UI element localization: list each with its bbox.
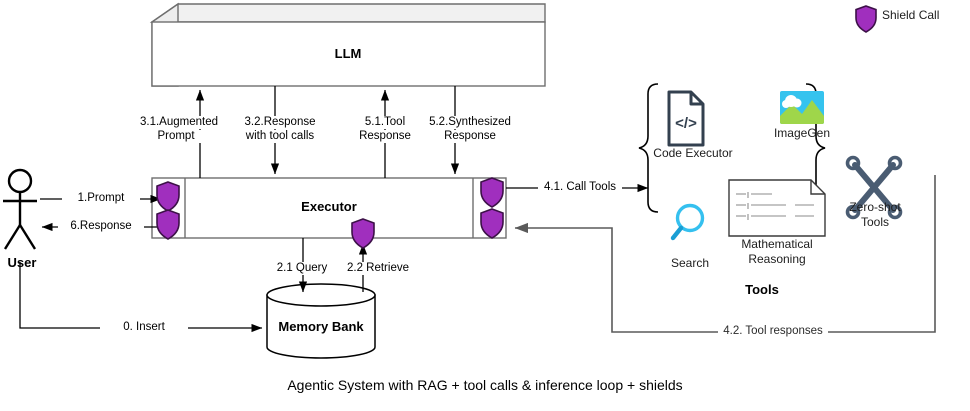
tool-label-math-l2: Reasoning: [725, 252, 829, 266]
edge-label-call-tools: 4.1. Call Tools: [538, 181, 622, 194]
tool-label-zeroshot-l2: Tools: [838, 215, 912, 229]
edge-label-prompt: 1.Prompt: [62, 192, 140, 205]
edge-label-synthesized-l2: Response: [424, 130, 516, 143]
tools-group-label: Tools: [717, 283, 807, 296]
edge-label-response: 6.Response: [58, 220, 144, 233]
edge-label-tool-response-l2: Response: [350, 130, 420, 143]
edge-label-tool-response-l1: 5.1.Tool: [350, 116, 420, 129]
diagram-caption: Agentic System with RAG + tool calls & i…: [0, 377, 970, 393]
edge-label-response-tools-l2: with tool calls: [238, 130, 322, 143]
tool-label-code-executor: Code Executor: [645, 146, 741, 160]
user-label: User: [0, 256, 44, 269]
tool-label-zeroshot-l1: Zero-shot: [838, 200, 912, 214]
tool-label-math-l1: Mathematical: [725, 237, 829, 251]
memory-bank-label: Memory Bank: [271, 320, 371, 333]
executor-label: Executor: [279, 200, 379, 213]
edge-label-query: 2.1 Query: [266, 262, 338, 275]
edge-label-retrieve: 2.2 Retrieve: [336, 262, 420, 275]
edge-label-response-tools-l1: 3.2.Response: [238, 116, 322, 129]
legend-label: Shield Call: [882, 8, 968, 22]
labels-layer: LLM Executor Memory Bank User Tools 3.1.…: [0, 0, 970, 411]
edge-label-insert: 0. Insert: [100, 321, 188, 334]
edge-label-tool-responses: 4.2. Tool responses: [718, 325, 828, 338]
llm-label: LLM: [298, 47, 398, 60]
edge-label-synthesized-l1: 5.2.Synthesized: [424, 116, 516, 129]
tool-label-imagegen: ImageGen: [765, 126, 839, 140]
tool-label-search: Search: [658, 256, 722, 270]
edge-label-augmented-prompt-l1: 3.1.Augmented: [140, 116, 212, 129]
edge-label-augmented-prompt-l2: Prompt: [140, 130, 212, 143]
